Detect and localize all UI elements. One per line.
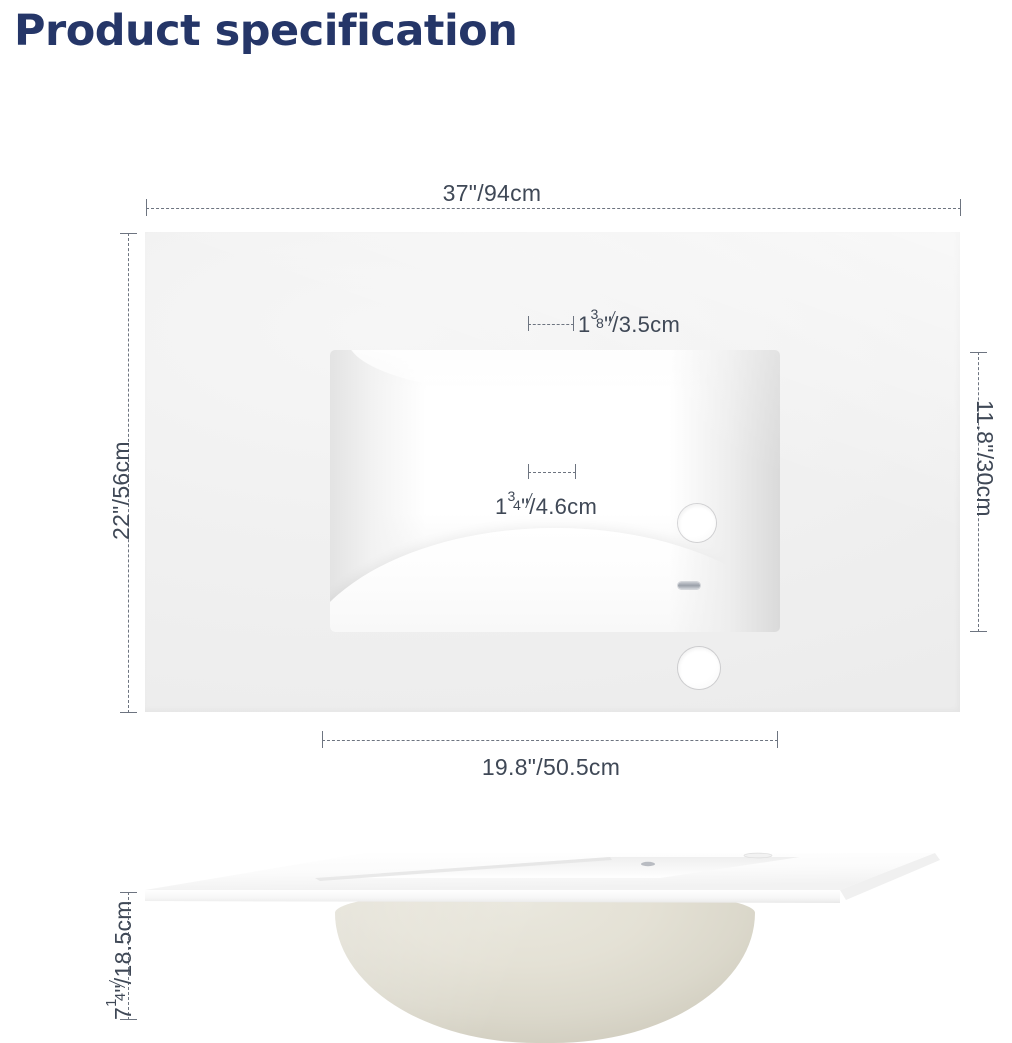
fraction-denominator: 4	[513, 497, 521, 513]
dimension-line-basin-width	[322, 740, 778, 741]
dimension-label-basin-depth: 11.8"/30cm	[971, 400, 998, 517]
faucet-hole-rest: "/3.5cm	[604, 312, 680, 337]
dimension-cap-bottom	[970, 631, 987, 632]
dimension-cap-left	[322, 731, 323, 748]
dimension-label-faucet-hole: 138"/3.5cm	[578, 310, 680, 338]
height-rest: "/18.5cm	[110, 900, 136, 992]
faucet-hole-whole: 1	[578, 312, 591, 337]
faucet-hole-fraction: 38	[591, 310, 605, 332]
dimension-cap-bottom	[120, 712, 137, 713]
dimension-cap-left	[528, 316, 529, 331]
drain-hole-whole: 1	[495, 494, 508, 519]
dimension-label-basin-width: 19.8"/50.5cm	[482, 754, 620, 781]
fraction-denominator: 4	[113, 993, 129, 1002]
fraction-denominator: 8	[596, 315, 604, 331]
dimension-cap-top	[120, 892, 137, 893]
dimension-cap-right	[777, 731, 778, 748]
dimension-cap-right	[573, 316, 574, 331]
dimension-cap-right	[575, 464, 576, 479]
basin-recess	[330, 350, 780, 632]
dimension-cap-left	[528, 464, 529, 479]
drain-hole-fraction: 34	[508, 492, 522, 514]
countertop-side-view	[140, 850, 940, 1025]
dimension-cap-top	[120, 233, 137, 234]
dimension-label-overall-height: 714"/18.5cm	[108, 900, 137, 1020]
dimension-cap-right	[960, 199, 961, 216]
dimension-line-overall-width	[146, 208, 961, 209]
dimension-cap-left	[146, 199, 147, 216]
height-whole: 7	[110, 1007, 136, 1020]
dimension-label-overall-depth: 22"/56cm	[108, 441, 135, 540]
dimension-label-overall-width: 37"/94cm	[443, 180, 542, 207]
basin-top-highlight	[348, 350, 762, 396]
faucet-hole	[678, 504, 716, 542]
page-title: Product specification	[14, 6, 517, 56]
dimension-cap-top	[970, 352, 987, 353]
countertop-slab-side	[140, 850, 940, 910]
drain-hole	[678, 647, 720, 689]
drain-hole-rest: "/4.6cm	[521, 494, 597, 519]
basin-bottom-curve	[330, 528, 780, 632]
height-fraction: 14	[108, 993, 131, 1007]
overflow-slot	[678, 582, 700, 589]
dimension-label-drain-hole: 134"/4.6cm	[495, 492, 597, 520]
dimension-line-drain-hole	[528, 472, 576, 473]
specification-diagram: Product specification 37"/94cm 22"/56cm …	[0, 0, 1012, 1024]
basin-bowl-shading	[335, 888, 755, 1043]
dimension-line-faucet-hole	[528, 324, 574, 325]
